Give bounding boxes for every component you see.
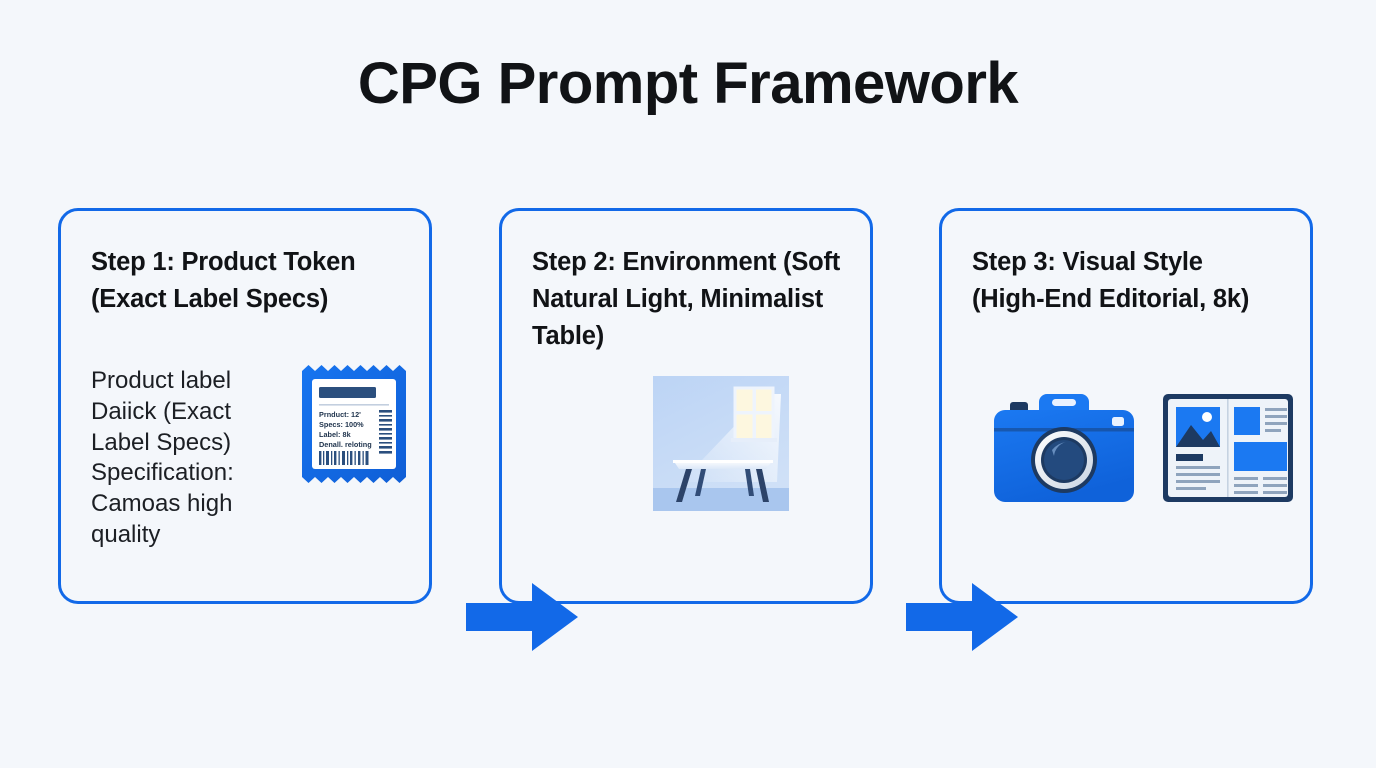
arrow-right-icon-2 <box>906 583 1018 651</box>
receipt-line-1: Prnduct: 12' <box>319 410 361 419</box>
arrow-right-icon-1 <box>466 583 578 651</box>
receipt-line-4: Denall. reloting <box>319 440 372 449</box>
step-2-heading: Step 2: Environment (Soft Natural Light,… <box>532 244 842 356</box>
process-flow: Step 1: Product Token (Exact Label Specs… <box>58 208 1320 610</box>
receipt-line-2: Specs: 100% <box>319 420 364 429</box>
editorial-spread-icon <box>1161 392 1295 504</box>
step-1-body: Product label Daiick (Exact Label Specs)… <box>91 366 271 551</box>
step-card-1[interactable]: Step 1: Product Token (Exact Label Specs… <box>58 208 432 604</box>
receipt-line-3: Label: 8k <box>319 430 352 439</box>
room-with-table-icon <box>653 376 789 511</box>
step-1-heading: Step 1: Product Token (Exact Label Specs… <box>91 244 401 318</box>
receipt-icon: Prnduct: 12' Specs: 100% Label: 8k Denal… <box>299 363 409 485</box>
step-3-heading: Step 3: Visual Style (High-End Editorial… <box>972 244 1282 318</box>
page-title: CPG Prompt Framework <box>0 52 1376 116</box>
step-card-2[interactable]: Step 2: Environment (Soft Natural Light,… <box>499 208 873 604</box>
step-card-3[interactable]: Step 3: Visual Style (High-End Editorial… <box>939 208 1313 604</box>
camera-icon <box>990 388 1138 506</box>
